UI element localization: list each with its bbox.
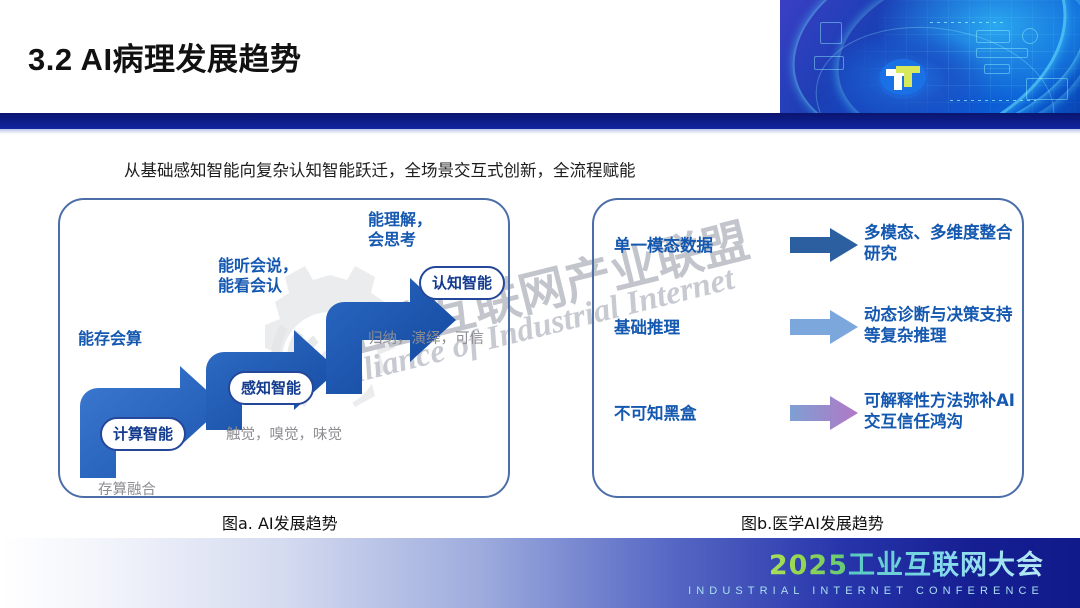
header-accent-bar [0,113,1080,129]
chip-block-7 [814,56,844,70]
row-2-to: 可解释性方法弥补AI交互信任鸿沟 [864,390,1020,433]
stage-1-label: 能存会算 [78,329,142,349]
arrow-dark-blue-icon [790,228,858,267]
chip-block-3 [984,64,1010,74]
conference-name-en: INDUSTRIAL INTERNET CONFERENCE [688,586,1044,597]
dot-line-2 [950,100,1036,101]
diagram-a: 能存会算 能听会说， 能看会认 能理解， 会思考 计算智能 感知智能 认知智能 … [58,198,510,498]
stage-1-sublabel: 存算融合 [98,480,156,501]
header-accent-bar-shadow [0,129,1080,134]
stage-2-label-line2: 能看会认 [218,276,298,296]
dot-line-1 [930,22,1004,23]
conference-name-cn: 工业互联网大会 [848,550,1044,581]
slide-header: 3.2 AI病理发展趋势 [0,0,1080,136]
row-1-from: 基础推理 [614,314,774,338]
chip-block-6 [820,22,842,44]
stage-3-label-line1: 能理解， [368,210,432,230]
row-0-from: 单一模态数据 [614,232,774,256]
chip-block-1 [976,30,1010,43]
diagram-b: 单一模态数据 多模态、多维度整合研究 基础推理 动态诊断与决策支持等复杂推理 不… [592,198,1024,498]
arrow-light-blue-icon [790,310,858,349]
conference-logo: 2025工业互联网大会 INDUSTRIAL INTERNET CONFEREN… [688,552,1044,597]
conference-logo-main: 2025工业互联网大会 [688,552,1044,579]
slide-footer: 2025工业互联网大会 INDUSTRIAL INTERNET CONFEREN… [0,538,1080,608]
stage-3-label: 能理解， 会思考 [368,210,432,250]
stage-2-sublabel: 触觉，嗅觉，味觉 [226,425,356,446]
tt-logo-icon [876,56,930,100]
stage-3-sublabel: 归纳，演绎，可信 [368,329,488,350]
stage-3-label-line2: 会思考 [368,230,432,250]
page-title: 3.2 AI病理发展趋势 [28,34,302,79]
arrow-purple-icon [790,396,858,435]
stage-2-label: 能听会说， 能看会认 [218,256,298,296]
row-2-from: 不可知黑盒 [614,400,774,424]
row-1-to: 动态诊断与决策支持等复杂推理 [864,304,1020,347]
slide-subtitle: 从基础感知智能向复杂认知智能跃迁，全场景交互式创新，全流程赋能 [124,157,636,181]
row-0-to: 多模态、多维度整合研究 [864,222,1020,265]
chip-block-2 [976,48,1028,58]
transition-row: 单一模态数据 多模态、多维度整合研究 [592,216,1024,294]
conference-year: 2025 [769,550,848,581]
pill-cognitive-intelligence[interactable]: 认知智能 [419,266,505,300]
pill-computational-intelligence[interactable]: 计算智能 [100,417,186,451]
tech-globe-graphic [780,0,1080,128]
stage-2-label-line1: 能听会说， [218,256,298,276]
transition-row: 基础推理 动态诊断与决策支持等复杂推理 [592,298,1024,376]
chip-block-4 [1022,28,1038,44]
caption-diagram-a: 图a. AI发展趋势 [222,510,338,534]
pill-perceptual-intelligence[interactable]: 感知智能 [228,371,314,405]
caption-diagram-b: 图b.医学AI发展趋势 [741,510,884,534]
transition-row: 不可知黑盒 可解释性方法弥补AI交互信任鸿沟 [592,384,1024,462]
chip-block-5 [1026,78,1068,100]
